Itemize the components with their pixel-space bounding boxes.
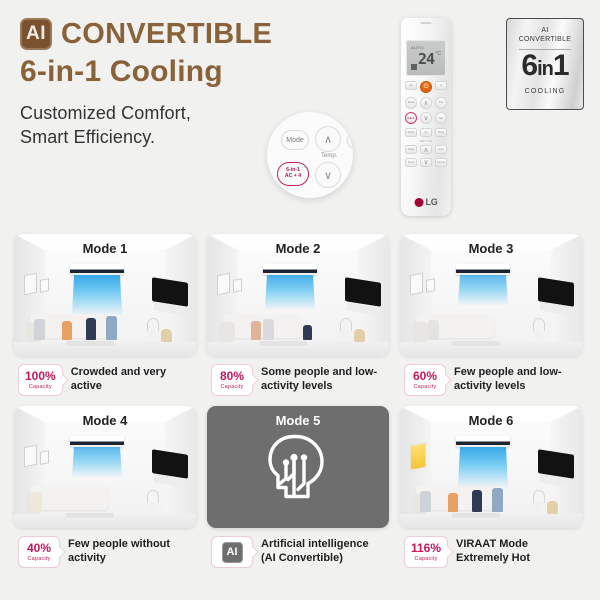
temp-up-button[interactable]: ∧	[420, 97, 432, 109]
airflow-indicator	[72, 447, 122, 477]
mode-card[interactable]: Mode 4	[14, 406, 196, 568]
air-conditioner-icon	[456, 264, 510, 275]
remote-control[interactable]: AUTO 24 °C Jet ⏻ Lt Mode ∧ Fan 6-in-1 ∨ …	[401, 18, 451, 216]
plant-icon	[146, 318, 158, 338]
person-figure	[251, 321, 261, 340]
set-up-label: SET UP	[405, 139, 447, 143]
mode-caption: 60% Capacity Few people and low- activit…	[400, 364, 582, 396]
mode-description-line-1: Some people and low-	[261, 366, 377, 380]
fan-speed-button[interactable]: Fan	[435, 97, 447, 109]
remote-row-5: Sleep ∧ Auto	[405, 145, 447, 154]
mode-card[interactable]: Mode 5 AI	[207, 406, 389, 568]
capacity-value: 116%	[411, 542, 441, 554]
callout-temp-label: Temp.	[321, 153, 337, 159]
lg-logo-mark	[415, 198, 424, 207]
callout-temp-down-button[interactable]: ∨	[315, 162, 341, 188]
mode-scene: Mode 4	[14, 406, 196, 528]
wall-frame-icon	[24, 445, 37, 468]
remote-lcd-display: AUTO 24 °C	[406, 40, 446, 76]
mode-description: Some people and low- activity levels	[261, 366, 377, 394]
air-conditioner-icon	[263, 264, 317, 275]
air-conditioner-icon	[456, 436, 510, 447]
wall-frame-icon	[24, 273, 37, 296]
power-button[interactable]: ⏻	[420, 81, 432, 93]
ai-badge: AI	[211, 536, 253, 568]
mode-caption: 80% Capacity Some people and low- activi…	[207, 364, 389, 396]
warm-window-icon	[410, 442, 426, 470]
airflow-indicator	[458, 447, 508, 487]
mode-description-line-2: (AI Convertible)	[261, 552, 369, 566]
mode-card[interactable]: Mode 2	[207, 234, 389, 396]
plant-icon	[339, 318, 351, 338]
wall-frame-icon	[410, 273, 423, 296]
lg-logo: LG	[415, 197, 438, 207]
mode-description: Few people without activity	[68, 538, 170, 566]
badge-big-left: 6	[521, 49, 537, 82]
swing-button[interactable]: Swing	[405, 128, 417, 137]
person-figure	[492, 488, 503, 512]
capacity-badge: 100% Capacity	[18, 364, 63, 396]
setup-up-button[interactable]: ∧	[420, 145, 432, 154]
plant-icon	[532, 318, 544, 338]
setup-down-button[interactable]: ∨	[420, 158, 432, 167]
person-figure	[263, 319, 274, 340]
mode-description: Few people and low- activity levels	[454, 366, 562, 394]
badge-line-2: CONVERTIBLE	[519, 35, 572, 44]
light-button[interactable]: Lt	[435, 81, 447, 90]
person-figure	[30, 492, 42, 512]
mode-description-line-2: Extremely Hot	[456, 552, 530, 566]
callout-six-line-2: AC + 4	[285, 174, 301, 180]
badge-line-1: AI	[541, 26, 548, 35]
air-conditioner-icon	[70, 436, 124, 447]
mode-title: Mode 2	[207, 241, 389, 256]
mode-button[interactable]: Mode	[405, 97, 417, 109]
capacity-value: 60%	[413, 370, 437, 382]
capacity-label: Capacity	[414, 384, 437, 390]
auto-button[interactable]: Auto	[435, 145, 447, 154]
sofa-arm	[219, 322, 235, 342]
dog-figure	[161, 329, 172, 342]
lcd-fan-icon	[411, 64, 417, 70]
badge-bottom-label: COOLING	[525, 88, 566, 95]
remote-row-1: Jet ⏻ Lt	[405, 81, 447, 93]
coffee-table	[452, 341, 500, 346]
person-figure	[428, 320, 439, 340]
mode-card[interactable]: Mode 1	[14, 234, 196, 396]
mode-scene: Mode 6	[400, 406, 582, 528]
badge-big-right: 1	[553, 49, 569, 82]
mode-description-line-2: activity	[68, 552, 170, 566]
wall-frame-icon	[233, 278, 242, 293]
remote-keypad: Jet ⏻ Lt Mode ∧ Fan 6-in-1 ∨ Set Swing A…	[405, 81, 447, 170]
set-button[interactable]: Set	[435, 112, 447, 124]
mode-description: VIRAAT Mode Extremely Hot	[456, 538, 530, 566]
plant-icon	[146, 490, 158, 510]
mode-description-line-1: Few people without	[68, 538, 170, 552]
mode-scene: Mode 5	[207, 406, 389, 528]
timer-button[interactable]: Timer	[435, 128, 447, 137]
mode-title: Mode 6	[400, 413, 582, 428]
ai-icon: AI	[222, 542, 243, 563]
person-figure	[106, 316, 117, 340]
callout-mode-button[interactable]: Mode	[281, 130, 309, 150]
mode-card[interactable]: Mode 6	[400, 406, 582, 568]
jet-button[interactable]: Jet	[405, 81, 417, 90]
wall-frame-icon	[426, 278, 435, 293]
badge-big-mid: in	[537, 58, 553, 80]
capacity-value: 100%	[25, 370, 56, 382]
six-in-one-button[interactable]: 6-in-1	[405, 112, 417, 124]
capacity-label: Capacity	[415, 556, 438, 562]
mode-scene: Mode 1	[14, 234, 196, 356]
temp-button[interactable]: Temp	[405, 158, 417, 167]
ai-brain-icon	[264, 432, 332, 507]
coffee-table	[66, 341, 114, 346]
airflow-indicator	[265, 275, 315, 309]
capacity-badge: 40% Capacity	[18, 536, 60, 568]
lcd-temperature: 24	[418, 50, 434, 68]
badge-headline: 6in1	[521, 51, 568, 81]
mode-description-line-2: activity levels	[454, 380, 562, 394]
capacity-label: Capacity	[221, 384, 244, 390]
wall-frame-icon	[40, 450, 49, 465]
mode-caption: 40% Capacity Few people without activity	[14, 536, 196, 568]
mode-description: Artificial intelligence (AI Convertible)	[261, 538, 369, 566]
remote-row-4: Swing Air Timer	[405, 128, 447, 137]
capacity-badge: 80% Capacity	[211, 364, 253, 396]
air-clean-button[interactable]: Air	[420, 128, 432, 137]
capacity-label: Capacity	[28, 556, 51, 562]
capacity-label: Capacity	[29, 384, 52, 390]
wall-frame-icon	[40, 278, 49, 293]
remote-ir-notch	[421, 22, 432, 24]
mode-cards-grid: Mode 1	[14, 234, 588, 568]
lcd-unit: °C	[435, 51, 441, 57]
person-figure	[34, 319, 45, 340]
mode-caption: 116% Capacity VIRAAT Mode Extremely Hot	[400, 536, 582, 568]
capacity-value: 80%	[220, 370, 244, 382]
mode-title: Mode 5	[207, 413, 389, 428]
mode-description-line-1: Few people and low-	[454, 366, 562, 380]
callout-temp-up-button[interactable]: ∧	[315, 126, 341, 152]
person-figure	[448, 493, 458, 512]
person-figure	[420, 491, 431, 512]
person-figure	[472, 490, 482, 512]
air-conditioner-icon	[70, 264, 124, 275]
mode-title: Mode 4	[14, 413, 196, 428]
remote-row-6: Temp ∨ Cancel	[405, 158, 447, 167]
remote-magnifier-callout: Mode ∧ Temp. ∨ 6-in-1 AC + 4	[267, 112, 353, 198]
page-subtitle: 6-in-1 Cooling	[20, 56, 390, 88]
remote-row-2: Mode ∧ Fan	[405, 97, 447, 109]
mode-description-line-1: Crowded and very active	[71, 366, 196, 394]
person-figure	[303, 325, 312, 340]
dog-figure	[354, 329, 365, 342]
wall-frame-icon	[217, 273, 230, 296]
mode-description-line-2: activity levels	[261, 380, 377, 394]
coffee-table	[259, 341, 307, 346]
mode-scene: Mode 3	[400, 234, 582, 356]
person-figure	[86, 318, 96, 340]
capacity-badge: 116% Capacity	[404, 536, 448, 568]
sofa-arm	[412, 322, 428, 342]
temp-down-button[interactable]: ∨	[420, 112, 432, 124]
six-in-one-badge: AI CONVERTIBLE 6in1 COOLING	[506, 18, 584, 110]
dog-figure	[547, 501, 558, 514]
lg-logo-text: LG	[426, 197, 438, 207]
ai-chip-icon: AI	[20, 18, 52, 50]
mode-scene: Mode 2	[207, 234, 389, 356]
coffee-table	[66, 513, 114, 518]
title-row: AI CONVERTIBLE	[20, 18, 390, 50]
mode-description-line-1: VIRAAT Mode	[456, 538, 530, 552]
mode-caption: AI Artificial intelligence (AI Convertib…	[207, 536, 389, 568]
plant-icon	[532, 490, 544, 510]
infographic-page: AI CONVERTIBLE 6-in-1 Cooling Customized…	[0, 0, 600, 600]
capacity-badge: 60% Capacity	[404, 364, 446, 396]
person-figure	[62, 321, 72, 340]
mode-description: Crowded and very active	[71, 366, 196, 394]
mode-caption: 100% Capacity Crowded and very active	[14, 364, 196, 396]
mode-title: Mode 3	[400, 241, 582, 256]
cancel-button[interactable]: Cancel	[435, 158, 447, 167]
mode-card[interactable]: Mode 3	[400, 234, 582, 396]
mode-description-line-1: Artificial intelligence	[261, 538, 369, 552]
coffee-table	[452, 513, 500, 518]
airflow-indicator	[458, 275, 508, 305]
callout-six-in-one-button[interactable]: 6-in-1 AC + 4	[277, 162, 309, 186]
capacity-value: 40%	[27, 542, 51, 554]
airflow-indicator	[72, 275, 122, 315]
mode-title: Mode 1	[14, 241, 196, 256]
page-title: CONVERTIBLE	[61, 20, 272, 49]
sleep-button[interactable]: Sleep	[405, 145, 417, 154]
remote-row-3: 6-in-1 ∨ Set	[405, 112, 447, 124]
